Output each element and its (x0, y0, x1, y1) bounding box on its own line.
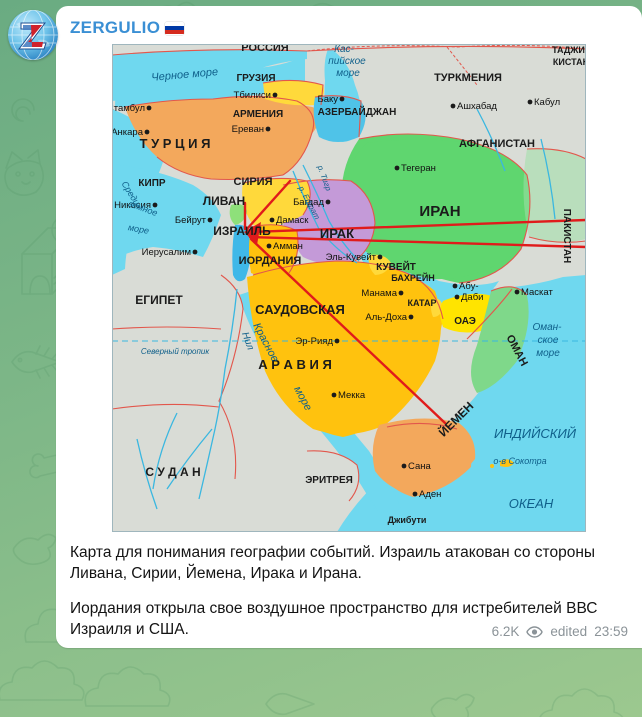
caption-paragraph-1: Карта для понимания географии событий. И… (70, 542, 628, 584)
city-dot (515, 290, 520, 295)
water-label: ИНДИЙСКИЙ (494, 425, 577, 441)
city-dot (326, 200, 331, 205)
city-label: Баку (317, 94, 338, 105)
water-label: пийское (328, 56, 366, 67)
water-label: ское (538, 335, 559, 346)
country-label: ИЗРАИЛЬ (213, 224, 271, 238)
city-label: Маскат (521, 287, 553, 298)
city-label: Ереван (232, 124, 264, 135)
city-dot (528, 100, 533, 105)
city-dot (145, 130, 150, 135)
country-label: С У Д А Н (145, 465, 200, 479)
water-label: Оман- (532, 322, 562, 333)
city-dot (335, 339, 340, 344)
city-dot (332, 393, 337, 398)
city-label: Дамаск (276, 215, 309, 226)
zergulio-avatar-icon (8, 10, 58, 60)
country-label: Т У Р Ц И Я (140, 136, 211, 151)
message-bubble[interactable]: ZERGULIO (56, 6, 642, 648)
channel-name: ZERGULIO (70, 18, 160, 38)
country-label: ГРУЗИЯ (236, 73, 275, 84)
country-label: КУВЕЙТ (376, 260, 416, 273)
country-label: АФГАНИСТАН (459, 138, 535, 150)
city-label: Тбилиси (234, 90, 271, 101)
country-label: СИРИЯ (234, 176, 273, 188)
map-image[interactable]: РОССИЯУЗБЕКИСТАНТАДЖИ-КИСТАНТУРКМЕНИЯГРУ… (112, 44, 586, 532)
water-label: Кас- (334, 44, 354, 55)
water-label: море (336, 68, 360, 79)
city-label: Тегеран (401, 163, 436, 174)
city-dot (453, 284, 458, 289)
water-label: Северный тропик (141, 347, 210, 356)
city-dot (409, 315, 414, 320)
country-label: ТАДЖИ- (552, 45, 586, 55)
middle-east-map: РОССИЯУЗБЕКИСТАНТАДЖИ-КИСТАНТУРКМЕНИЯГРУ… (112, 44, 586, 532)
city-label: Кабул (534, 97, 560, 108)
city-label: Эль-Кувейт (326, 252, 377, 263)
country-label: РОССИЯ (241, 44, 289, 54)
country-label: ТУРКМЕНИЯ (434, 72, 502, 84)
country-label: Джибути (388, 515, 427, 525)
country-label: ИРАК (320, 226, 354, 241)
russia-flag-icon (165, 22, 184, 35)
view-count: 6.2K (492, 624, 520, 639)
city-label: Иерусалим (142, 247, 191, 258)
city-label: Бейрут (175, 215, 207, 226)
country-label: КИПР (138, 178, 165, 189)
city-label: Амман (273, 241, 303, 252)
city-label: Аден (419, 489, 441, 500)
country-label: ПАКИСТАН (561, 209, 572, 264)
city-dot (340, 97, 345, 102)
city-label: Стамбул (112, 103, 145, 114)
city-dot (378, 255, 383, 260)
city-dot (273, 93, 278, 98)
city-dot (451, 104, 456, 109)
city-label: Сана (408, 461, 431, 472)
city-dot (395, 166, 400, 171)
city-label: Ашхабад (457, 101, 497, 112)
timestamp: 23:59 (594, 624, 628, 639)
city-dot (266, 127, 271, 132)
country-label: КАТАР (408, 298, 437, 308)
city-label: Манама (361, 288, 397, 299)
country-label: САУДОВСКАЯ (255, 302, 345, 317)
city-dot (267, 244, 272, 249)
country-label: АЗЕРБАЙДЖАН (318, 105, 397, 118)
country-label: ОАЭ (454, 316, 476, 327)
city-label: Анкара (112, 127, 144, 138)
country-label: КИСТАН (553, 57, 586, 67)
city-dot (208, 218, 213, 223)
country-label: ЭРИТРЕЯ (305, 475, 353, 486)
city-label: Мекка (338, 390, 366, 401)
city-label: Абу- (459, 281, 478, 292)
country-label: ЕГИПЕТ (135, 293, 183, 307)
eye-icon (526, 626, 543, 638)
city-dot (147, 106, 152, 111)
water-label: ОКЕАН (509, 496, 554, 511)
city-dot (270, 218, 275, 223)
channel-name-row[interactable]: ZERGULIO (56, 6, 642, 44)
country-label: БАХРЕЙН (391, 272, 435, 283)
city-dot (413, 492, 418, 497)
country-label: ИОРДАНИЯ (239, 255, 302, 267)
edited-label: edited (550, 624, 587, 639)
city-label: Эр-Рияд (295, 336, 333, 347)
water-label: море (536, 348, 560, 359)
city-dot (193, 250, 198, 255)
country-label: ЛИВАН (203, 194, 245, 208)
city-dot (399, 291, 404, 296)
city-label: Аль-Доха (365, 312, 407, 323)
city-dot (402, 464, 407, 469)
country-label: АРМЕНИЯ (233, 109, 283, 120)
water-label: о-в Сокотра (493, 456, 546, 466)
city-dot (455, 295, 460, 300)
city-label: Даби (461, 292, 483, 303)
country-label: ИРАН (419, 203, 460, 220)
avatar[interactable] (8, 10, 58, 60)
